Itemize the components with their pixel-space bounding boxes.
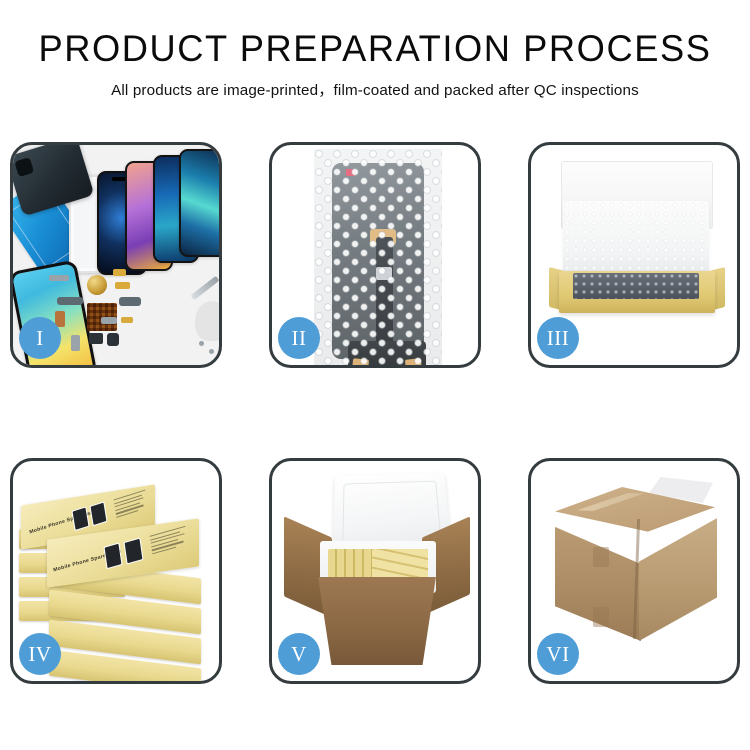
small-part-graphic [121,317,133,323]
small-part-graphic [49,275,69,281]
carton-body-graphic [310,577,444,665]
box-spec-lines [150,526,189,557]
small-part-graphic [71,335,80,351]
step-badge-6: VI [537,633,579,675]
gold-component-graphic [87,275,107,295]
box-artwork-screen [89,501,107,526]
small-part-graphic [113,269,126,276]
step-panel-6[interactable]: VI [528,458,740,684]
bubble-bag-graphic [314,149,442,365]
small-part-graphic [89,333,103,344]
product-preparation-process-page: PRODUCT PREPARATION PROCESS All products… [0,0,750,750]
carton-side-face-graphic [639,513,717,641]
step-badge-4: IV [19,633,61,675]
box-spec-lines [114,490,149,521]
process-step-grid: I II [10,142,745,684]
step-badge-2: II [278,317,320,359]
page-title: PRODUCT PREPARATION PROCESS [8,30,743,69]
step-badge-5: V [278,633,320,675]
step-panel-5[interactable]: V [269,458,481,684]
step-badge-1: I [19,317,61,359]
flex-cable-graphic [119,297,141,306]
step-panel-1[interactable]: I [10,142,222,368]
bubble-wrap-texture [314,149,442,365]
box-artwork-screen [71,506,89,531]
small-part-graphic [107,333,119,346]
step-panel-2[interactable]: II [269,142,481,368]
small-part-graphic [115,282,130,289]
box-artwork-screen [103,543,122,570]
step-panel-4[interactable]: Mobile Phone Spare Parts [10,458,222,684]
bubble-wrapped-item-graphic [573,273,699,299]
hand-graphic [195,301,219,341]
step-panel-3[interactable]: III [528,142,740,368]
small-part-graphic [101,317,117,324]
carton-handle-tab-graphic [593,547,609,567]
box-artwork-screen [123,537,143,564]
page-subtitle: All products are image-printed，film-coat… [0,78,750,100]
flex-cable-graphic [57,297,83,305]
step-badge-3: III [537,317,579,359]
carton-handle-tab-graphic [593,607,609,627]
foam-sheet-graphic [563,201,709,275]
screw-graphic [209,349,214,354]
screw-graphic [199,341,204,346]
page-header: PRODUCT PREPARATION PROCESS All products… [0,0,750,100]
tweezers-graphic [191,276,219,300]
turquoise-phone-graphic [179,149,219,257]
